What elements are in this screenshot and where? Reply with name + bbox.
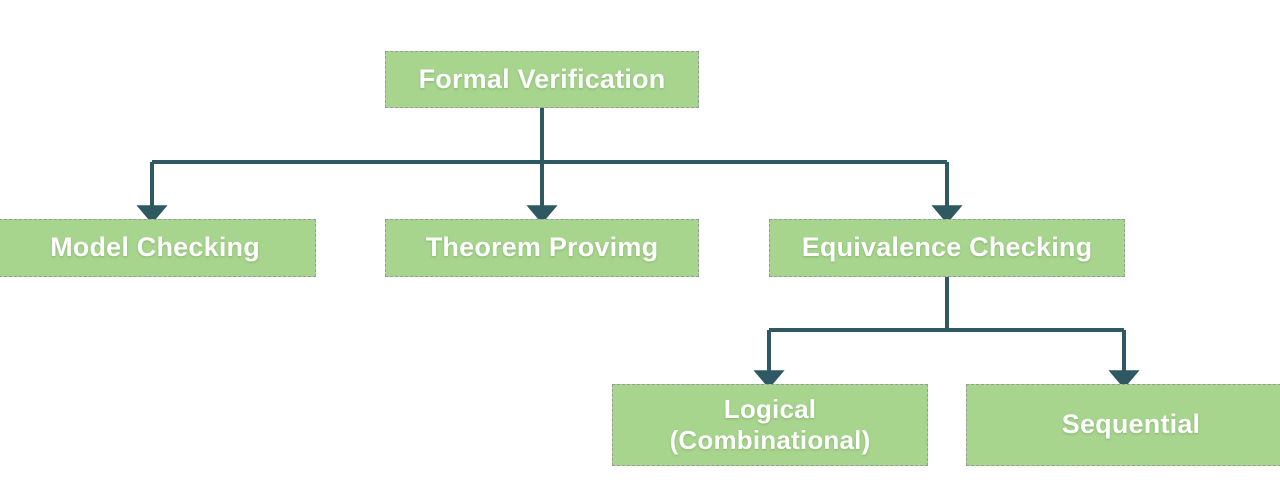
edge-formal-verification-to-level2 — [152, 108, 947, 210]
diagram-canvas: Formal Verification Model Checking Theor… — [0, 0, 1280, 501]
node-label: Formal Verification — [392, 64, 692, 96]
node-model-checking[interactable]: Model Checking — [0, 219, 316, 277]
node-theorem-proving[interactable]: Theorem Provimg — [385, 219, 699, 277]
node-sequential[interactable]: Sequential — [966, 384, 1280, 466]
node-label: Model Checking — [1, 232, 309, 264]
node-label-line-1: Logical — [724, 394, 816, 424]
node-label-multiline: Logical (Combinational) — [619, 394, 921, 455]
edge-equivalence-checking-to-level3 — [769, 277, 1124, 375]
node-label: Sequential — [973, 409, 1280, 441]
node-equivalence-checking[interactable]: Equivalence Checking — [769, 219, 1125, 277]
node-formal-verification[interactable]: Formal Verification — [385, 51, 699, 108]
node-logical-combinational[interactable]: Logical (Combinational) — [612, 384, 928, 466]
node-label: Equivalence Checking — [776, 232, 1118, 264]
node-label: Theorem Provimg — [392, 232, 692, 264]
node-label-line-2: (Combinational) — [619, 425, 921, 456]
